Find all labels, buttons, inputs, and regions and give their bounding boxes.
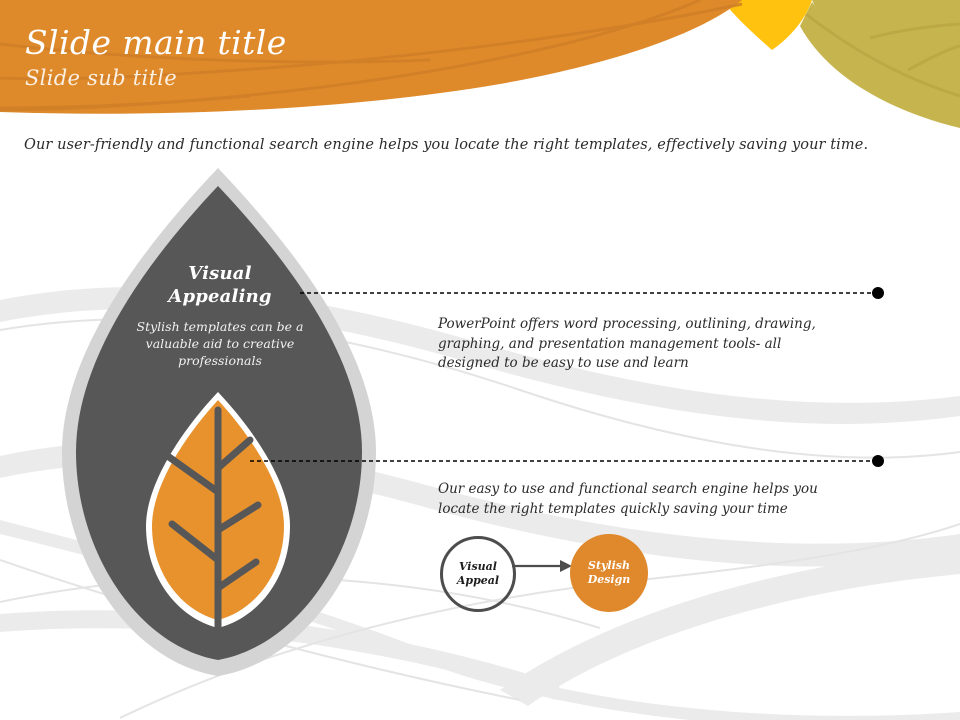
- page-title: Slide main title: [25, 24, 287, 62]
- leaf-description-text: Stylish templates can be a valuable aid …: [116, 318, 324, 369]
- callout-connector-line-2: [250, 454, 900, 474]
- callout-text-2: Our easy to use and functional search en…: [438, 480, 828, 519]
- stylish-design-line-2: Design: [588, 573, 631, 587]
- process-node-visual-appeal-label: Visual Appeal: [457, 560, 499, 588]
- leaf-heading-line-2: Appealing: [120, 285, 320, 308]
- callout-marker-dot-2: [872, 455, 884, 467]
- process-node-visual-appeal[interactable]: Visual Appeal: [440, 536, 516, 612]
- callout-connector-line-1: [300, 286, 900, 306]
- callout-text-1: PowerPoint offers word processing, outli…: [438, 315, 818, 374]
- visual-appeal-line-2: Appeal: [457, 574, 499, 588]
- intro-paragraph: Our user-friendly and functional search …: [24, 135, 868, 155]
- process-arrow-icon: [512, 556, 574, 576]
- stylish-design-line-1: Stylish: [588, 559, 631, 573]
- visual-appeal-line-1: Visual: [457, 560, 499, 574]
- leaf-heading-line-1: Visual: [120, 262, 320, 285]
- leaf-heading-label: Visual Appealing: [120, 262, 320, 308]
- process-node-stylish-design[interactable]: Stylish Design: [570, 534, 648, 612]
- header-title-group: Slide main title Slide sub title: [25, 24, 287, 91]
- page-subtitle: Slide sub title: [25, 65, 287, 91]
- callout-marker-dot-1: [872, 287, 884, 299]
- slide-canvas: Slide main title Slide sub title Our use…: [0, 0, 960, 720]
- process-node-stylish-design-label: Stylish Design: [588, 559, 631, 587]
